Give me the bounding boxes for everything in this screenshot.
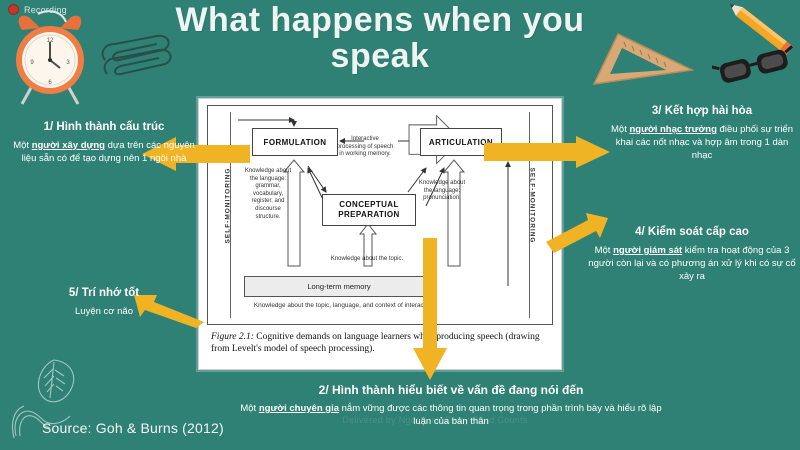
recording-label: Recording (24, 5, 67, 15)
slide-canvas: Recording 12 3 6 9 (0, 0, 800, 450)
note-knowledge-topic: Knowledge about the topic. (312, 256, 422, 264)
arrow-to-annotation-3 (484, 136, 610, 168)
alarm-clock-icon: 12 3 6 9 (4, 8, 96, 113)
annotation-2-body-after: nắm vững được các thông tin quan trọng t… (339, 403, 662, 427)
recording-indicator: Recording (8, 4, 67, 15)
figure-caption-label: Figure 2.1: (211, 332, 254, 342)
node-conceptual-preparation: CONCEPTUAL PREPARATION (322, 194, 416, 226)
note-interactive-processing: Interactive processing of speech in work… (336, 136, 394, 159)
annotation-2-body-before: Một (240, 403, 258, 414)
figure-caption-line1: Cognitive demands on language learners w… (254, 332, 503, 342)
figure-caption: Figure 2.1: Cognitive demands on languag… (211, 331, 551, 355)
node-formulation: FORMULATION (252, 128, 338, 156)
eyeglasses-icon (712, 38, 798, 101)
annotation-2-heading: 2/ Hình thành hiểu biết về vấn đề đang n… (236, 383, 666, 397)
page-title: What happens when you speak (170, 2, 590, 74)
annotation-2: 2/ Hình thành hiểu biết về vấn đề đang n… (236, 383, 666, 428)
annotation-5-body-after: Luyện cơ não (75, 306, 133, 317)
annotation-5-heading: 5/ Trí nhớ tốt (14, 286, 194, 300)
annotation-2-highlight: người chuyên gia (259, 403, 339, 414)
annotation-3-body: Một người nhạc trưởng điều phối sự triển… (606, 123, 798, 162)
annotation-1: 1/ Hình thành cấu trúc Một người xây dựn… (6, 120, 202, 165)
note-knowledge-language: Knowledge about the language: grammar, v… (242, 168, 294, 221)
triangle-ruler-icon (588, 18, 698, 95)
arrow-to-annotation-2 (413, 238, 447, 380)
annotation-1-heading: 1/ Hình thành cấu trúc (6, 120, 202, 134)
annotation-1-body: Một người xây dựng dựa trên các nguyên l… (6, 139, 202, 165)
annotation-5-body: Luyện cơ não (14, 305, 194, 318)
annotation-2-body: Một người chuyên gia nắm vững được các t… (236, 402, 666, 428)
annotation-4-body-before: Một (595, 245, 613, 256)
note-knowledge-pronunciation: Knowledge about the language: pronunciat… (416, 180, 468, 203)
node-long-term-memory: Long-term memory (244, 276, 434, 297)
recording-dot-icon (8, 4, 19, 15)
annotation-3: 3/ Kết hợp hài hòa Một người nhạc trưởng… (606, 104, 798, 162)
annotation-4: 4/ Kiểm soát cấp cao Một người giám sát … (588, 225, 796, 283)
annotation-3-body-before: Một (611, 124, 629, 135)
annotation-4-heading: 4/ Kiểm soát cấp cao (588, 225, 796, 239)
annotation-4-highlight: người giám sát (613, 245, 682, 256)
annotation-5: 5/ Trí nhớ tốt Luyện cơ não (14, 286, 194, 318)
source-credit: Source: Goh & Burns (2012) (42, 420, 224, 436)
svg-text:12: 12 (47, 38, 54, 44)
annotation-3-heading: 3/ Kết hợp hài hòa (606, 104, 798, 118)
annotation-4-body: Một người giám sát kiểm tra hoạt động củ… (588, 244, 796, 283)
annotation-1-body-before: Một (13, 140, 31, 151)
annotation-3-highlight: người nhạc trưởng (629, 124, 716, 135)
annotation-1-highlight: người xây dựng (32, 140, 105, 151)
